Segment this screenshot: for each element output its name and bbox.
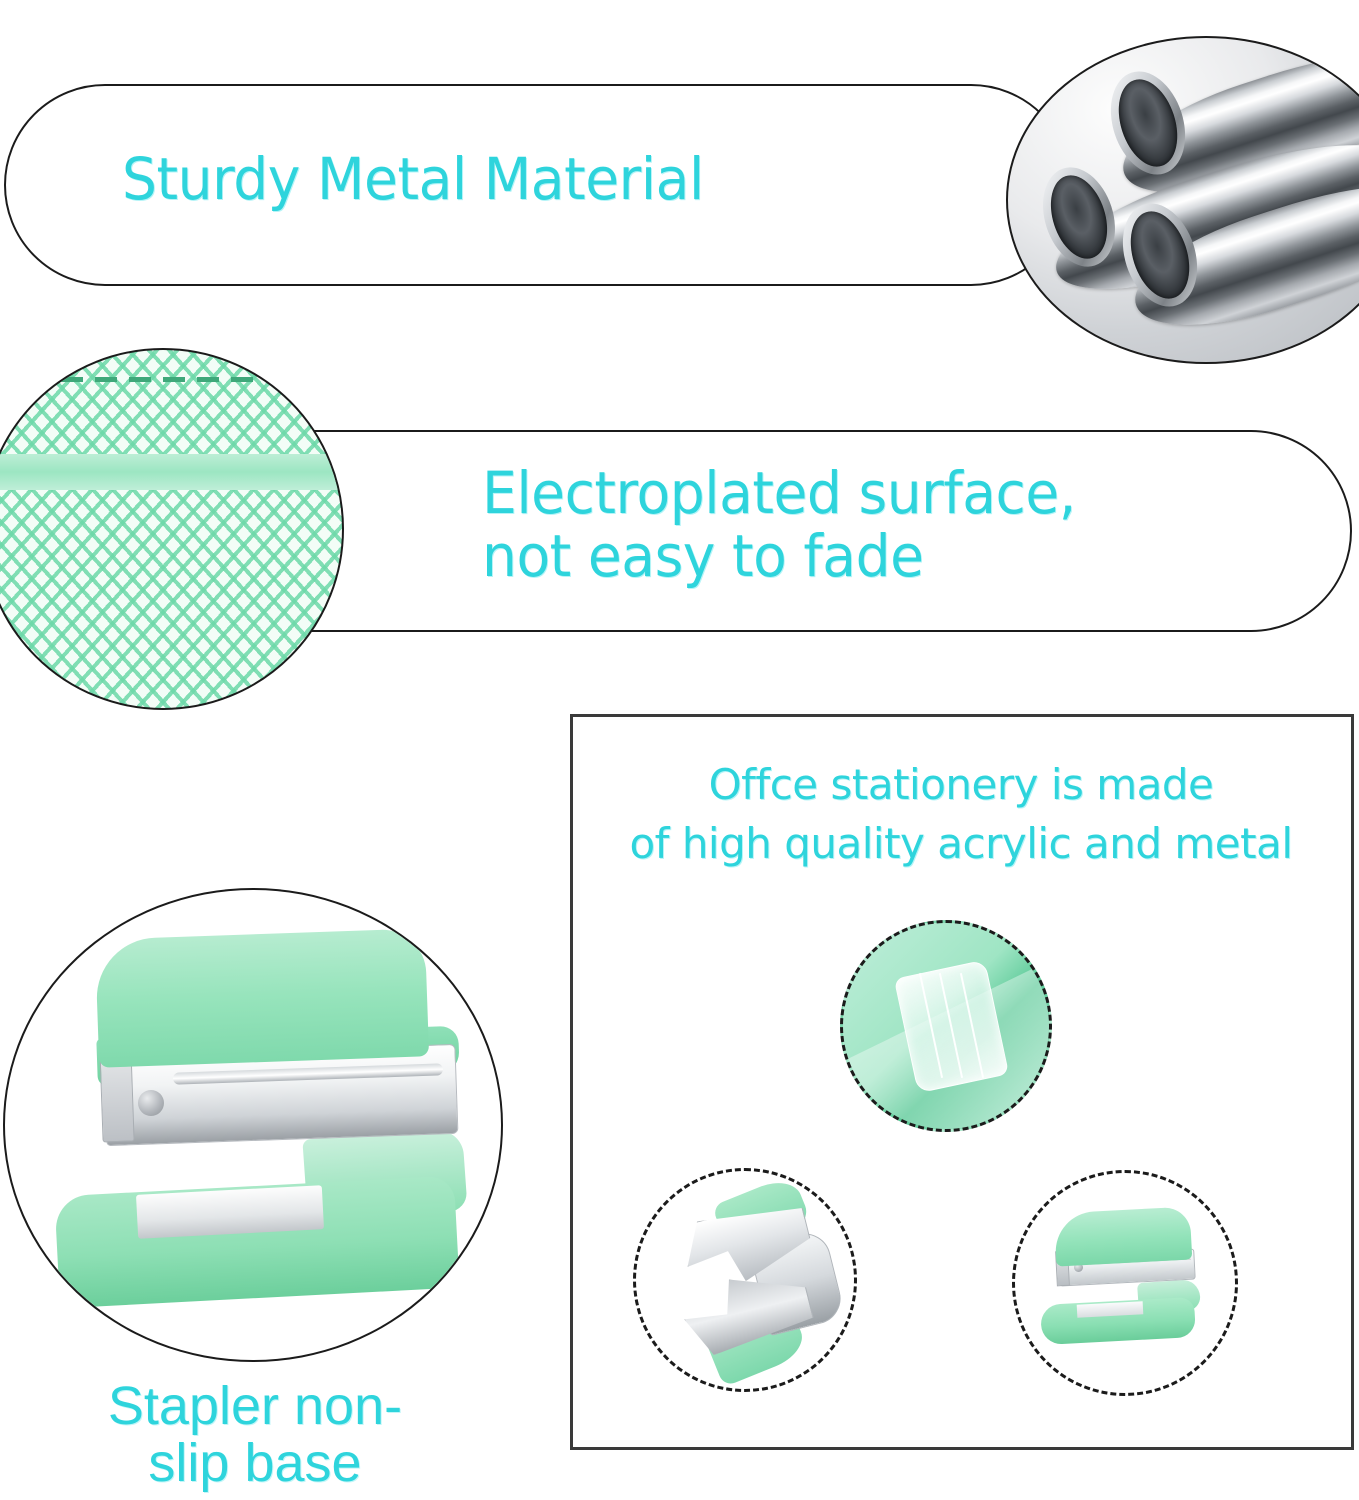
- caption-electroplated-surface: Electroplated surface, not easy to fade: [482, 462, 1076, 587]
- caption-office-line1: Offce stationery is made: [709, 760, 1214, 809]
- open-stapler-photo: [3, 888, 503, 1362]
- closed-stapler-thumbnail: [1012, 1170, 1238, 1396]
- caption-office-line2: of high quality acrylic and metal: [629, 819, 1292, 868]
- steel-pipes-photo: [1006, 36, 1359, 364]
- mesh-texture-photo: [0, 348, 344, 710]
- caption-stapler-non-slip-base: Stapler non- slip base: [20, 1378, 490, 1492]
- caption-sturdy-metal-material: Sturdy Metal Material: [122, 148, 704, 211]
- stapler2-top-cover: [1053, 1207, 1192, 1267]
- staple-remover-thumbnail: [633, 1168, 857, 1392]
- stapler-top-cover: [95, 928, 429, 1067]
- caption-office-stationery: Offce stationery is madeof high quality …: [570, 756, 1352, 874]
- tape-dispenser-thumbnail: [840, 920, 1052, 1132]
- product-infographic: Sturdy Metal Material Electroplated surf…: [0, 0, 1359, 1500]
- mesh-rim-band: [0, 454, 344, 490]
- mesh-top-edge-dashes: [27, 377, 299, 382]
- stapler-rivet: [138, 1090, 164, 1116]
